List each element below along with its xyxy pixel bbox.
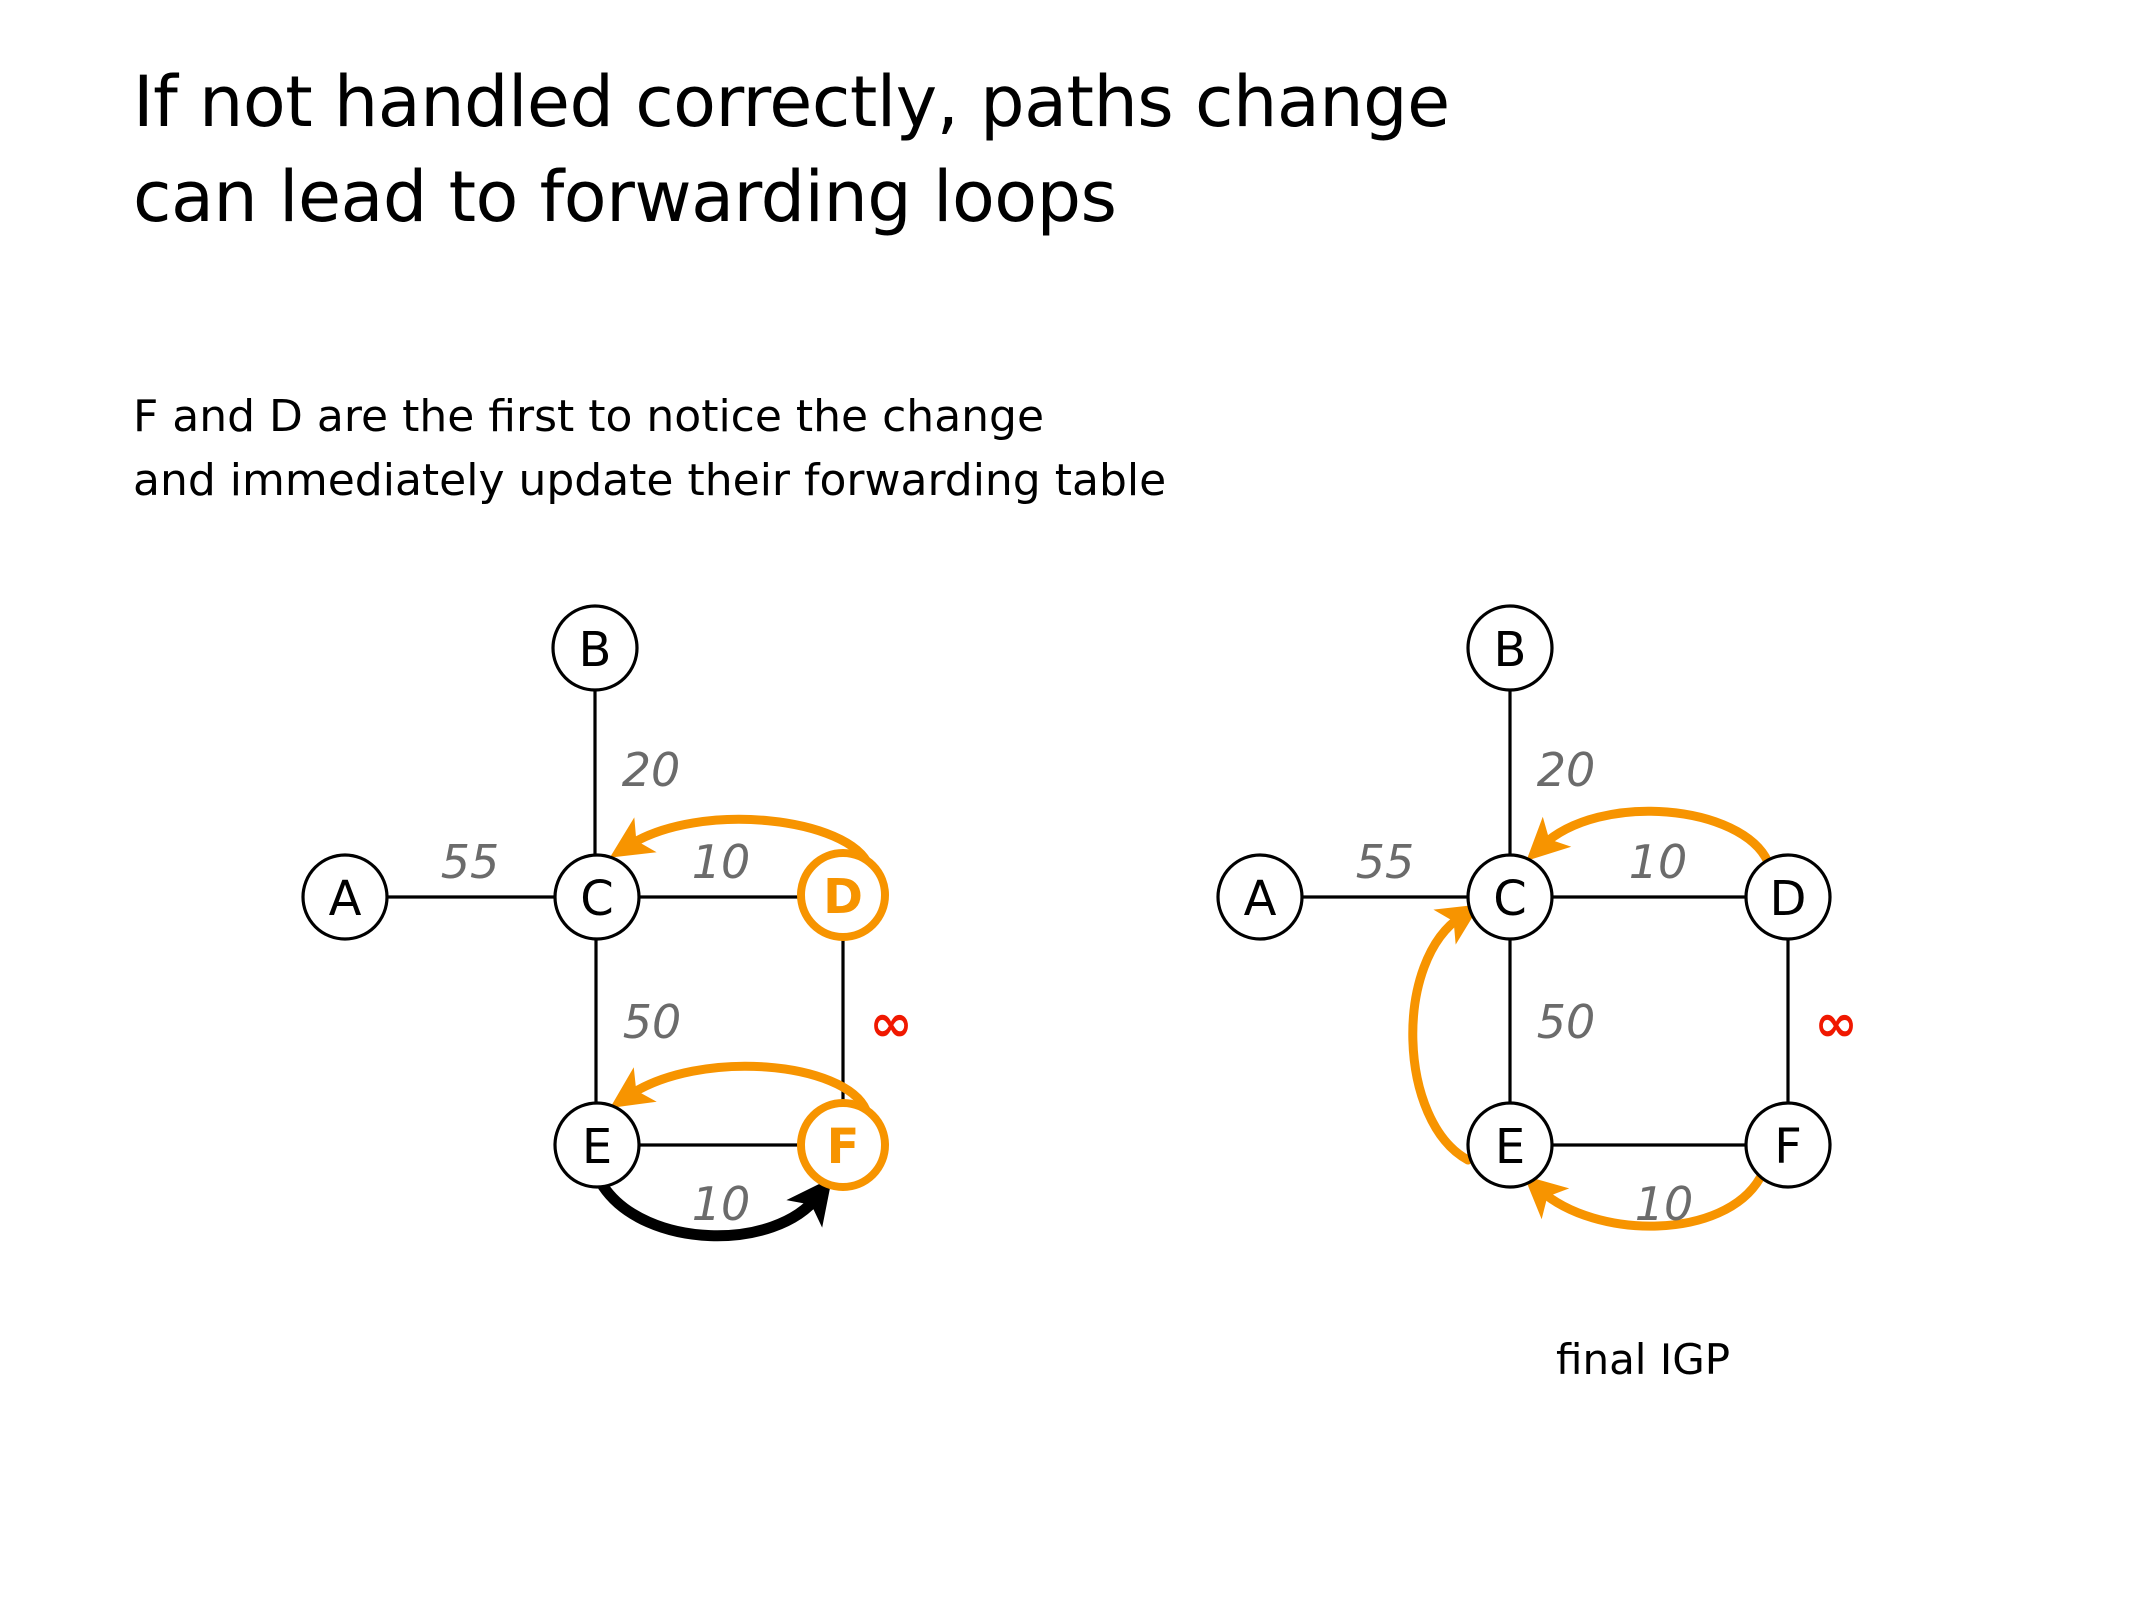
final-igp-caption: final IGP — [1556, 1335, 1730, 1384]
node-C-label: C — [580, 871, 614, 927]
node-A[interactable]: A — [303, 855, 387, 939]
node-D-label-right: D — [1770, 871, 1807, 927]
node-D[interactable]: D — [801, 853, 885, 937]
edge-weight-C-D-right: 10 — [1629, 835, 1688, 889]
node-A-label-right: A — [1244, 871, 1277, 927]
edge-weight-C-E-right: 50 — [1537, 995, 1596, 1049]
edge-weight-C-E: 50 — [623, 995, 682, 1049]
node-A-label: A — [329, 871, 362, 927]
node-D-label: D — [823, 869, 863, 925]
node-E-label: E — [582, 1119, 612, 1175]
node-F-right[interactable]: F — [1746, 1103, 1830, 1187]
network-diagrams: A B C D E F 55 20 — [0, 0, 2134, 1600]
edge-weight-C-D: 10 — [692, 835, 751, 889]
node-C[interactable]: C — [555, 855, 639, 939]
edge-weight-B-C-right: 20 — [1537, 743, 1596, 797]
node-B-label-right: B — [1494, 622, 1527, 678]
node-E-right[interactable]: E — [1468, 1103, 1552, 1187]
slide-canvas: If not handled correctly, paths change c… — [0, 0, 2134, 1600]
node-C-label-right: C — [1493, 871, 1527, 927]
node-B-right[interactable]: B — [1468, 606, 1552, 690]
node-D-right[interactable]: D — [1746, 855, 1830, 939]
edge-weight-A-C-right: 55 — [1356, 835, 1415, 889]
node-B[interactable]: B — [553, 606, 637, 690]
node-F[interactable]: F — [801, 1103, 885, 1187]
node-C-right[interactable]: C — [1468, 855, 1552, 939]
edge-weight-E-F-right: 10 — [1635, 1177, 1694, 1231]
node-F-label-right: F — [1774, 1119, 1802, 1175]
node-A-right[interactable]: A — [1218, 855, 1302, 939]
node-F-label: F — [827, 1119, 860, 1175]
node-E[interactable]: E — [555, 1103, 639, 1187]
flow-arrow-E-to-C-right — [1413, 916, 1468, 1160]
node-B-label: B — [579, 622, 612, 678]
edge-weight-B-C: 20 — [622, 743, 681, 797]
edge-weight-E-F: 10 — [692, 1177, 751, 1231]
node-E-label-right: E — [1495, 1119, 1525, 1175]
edge-weight-D-F-infinity: ∞ — [869, 994, 912, 1054]
edge-weight-A-C: 55 — [441, 835, 500, 889]
diagram-left-topology: A B C D E F 55 20 — [303, 606, 913, 1236]
edge-weight-D-F-infinity-right: ∞ — [1814, 994, 1857, 1054]
diagram-right-topology: A B C D E F 55 20 — [1218, 606, 1858, 1231]
